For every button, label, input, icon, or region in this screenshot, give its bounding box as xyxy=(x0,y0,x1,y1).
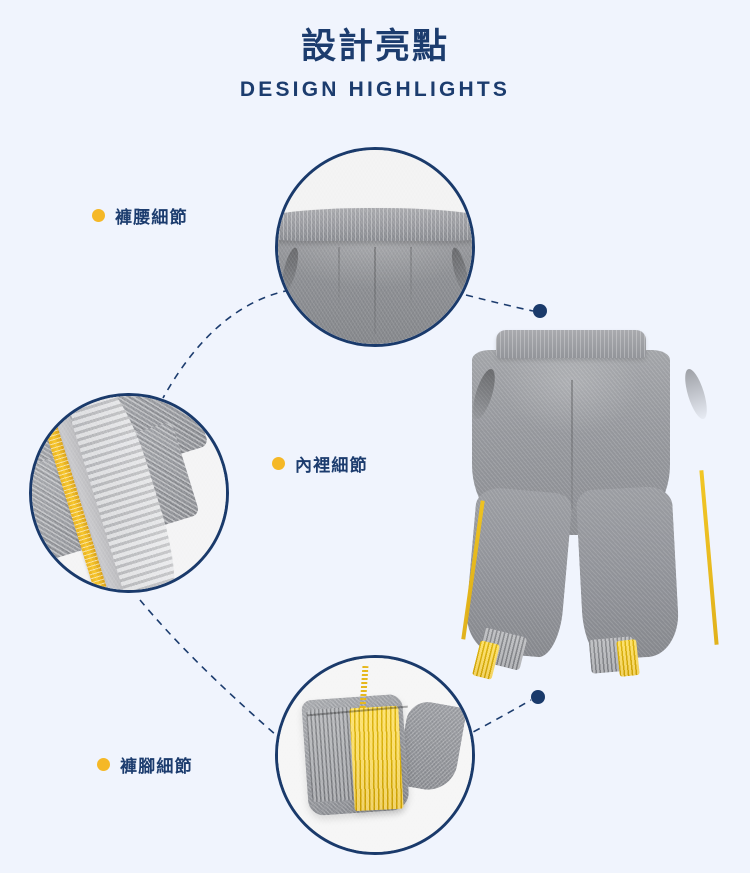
callout-label-cuff: 褲腳細節 xyxy=(97,752,193,777)
detail-photo-waistband xyxy=(275,147,475,347)
bullet-dot-icon xyxy=(272,457,285,470)
callout-label-text: 褲腳細節 xyxy=(120,752,193,777)
bullet-dot-icon xyxy=(97,758,110,771)
waistband-photo xyxy=(278,150,472,344)
connector-lining-to-cuff xyxy=(140,600,276,735)
callout-label-text: 褲腰細節 xyxy=(115,203,188,228)
design-highlights-page: 設計亮點 DESIGN HIGHLIGHTS 褲腰細節 內裡細節 褲腳細節 xyxy=(0,0,750,873)
page-subtitle: DESIGN HIGHLIGHTS xyxy=(0,78,750,101)
connector-waistband-to-lining xyxy=(163,290,290,398)
callout-label-waistband: 褲腰細節 xyxy=(92,203,188,228)
lining-photo xyxy=(32,396,226,590)
connector-dot-waistband xyxy=(533,304,547,318)
product-photo-sweatpants xyxy=(440,320,740,710)
bullet-dot-icon xyxy=(92,209,105,222)
callout-label-text: 內裡細節 xyxy=(295,451,368,476)
detail-photo-lining xyxy=(29,393,229,593)
connector-waistband-to-product xyxy=(466,295,533,311)
page-header: 設計亮點 DESIGN HIGHLIGHTS xyxy=(0,0,750,101)
callout-label-lining: 內裡細節 xyxy=(272,451,368,476)
page-title: 設計亮點 xyxy=(0,28,750,67)
